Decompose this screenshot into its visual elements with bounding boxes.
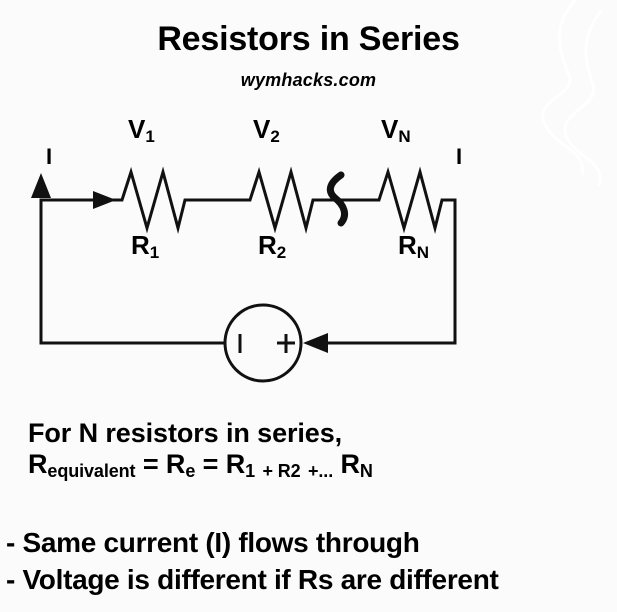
resistor-1-zigzag — [115, 172, 196, 228]
resistor-2-zigzag — [243, 172, 320, 228]
formula-equation-line: Requivalent = Re = R1 + R2 +... RN — [28, 448, 608, 480]
formula-lhs: R — [28, 449, 47, 479]
formula-plus2: +... — [308, 461, 333, 481]
resistance-label-2-sub: 2 — [277, 243, 286, 262]
current-label-left: I — [46, 146, 52, 168]
resistance-label-n-text: R — [398, 230, 417, 260]
page-title: Resistors in Series — [0, 22, 617, 56]
current-arrow-bottom-icon — [303, 333, 328, 353]
formula-lhs-sub: equivalent — [47, 461, 135, 481]
voltage-label-n-sub: N — [398, 127, 410, 146]
formula-rhs: R — [341, 449, 360, 479]
circuit-schematic-svg — [0, 110, 617, 405]
resistance-label-n: RN — [398, 232, 429, 258]
resistance-label-n-sub: N — [417, 243, 429, 262]
formula-intro-line: For N resistors in series, — [28, 418, 608, 448]
site-watermark: wymhacks.com — [0, 70, 617, 91]
formula-eq2-sub: 1 — [245, 461, 255, 481]
note-bullet-2: - Voltage is different if Rs are differe… — [6, 561, 617, 598]
voltage-label-n: VN — [381, 116, 411, 142]
voltage-label-2-text: V — [253, 114, 270, 144]
voltage-label-2-sub: 2 — [270, 127, 279, 146]
voltage-label-1: V1 — [128, 116, 155, 142]
voltage-label-2: V2 — [253, 116, 280, 142]
resistance-label-1: R1 — [131, 232, 159, 258]
formula-eq1-sub: e — [185, 461, 195, 481]
notes-list: - Same current (I) flows through - Volta… — [6, 524, 617, 598]
circuit-diagram: I I V1 R1 V2 R2 VN RN — [0, 110, 617, 405]
slide-page: Resistors in Series wymhacks.com — [0, 0, 617, 612]
resistance-label-2: R2 — [258, 232, 286, 258]
current-arrow-top-icon — [93, 191, 116, 209]
formula-eq2: = R — [203, 449, 245, 479]
current-label-right: I — [456, 146, 462, 168]
formula-block: For N resistors in series, Requivalent =… — [28, 418, 608, 481]
voltage-label-1-sub: 1 — [145, 127, 154, 146]
resistor-n-zigzag — [372, 172, 455, 228]
voltage-label-n-text: V — [381, 114, 398, 144]
formula-plus1: + R — [262, 461, 290, 481]
formula-rhs-sub: N — [360, 461, 373, 481]
voltage-label-1-text: V — [128, 114, 145, 144]
resistance-label-1-text: R — [131, 230, 150, 260]
resistance-label-2-text: R — [258, 230, 277, 260]
resistance-label-1-sub: 1 — [150, 243, 159, 262]
note-bullet-1: - Same current (I) flows through — [6, 524, 617, 561]
current-arrow-left-icon — [31, 173, 51, 198]
formula-eq1: = R — [143, 449, 185, 479]
formula-plus1-sub: 2 — [291, 461, 301, 481]
